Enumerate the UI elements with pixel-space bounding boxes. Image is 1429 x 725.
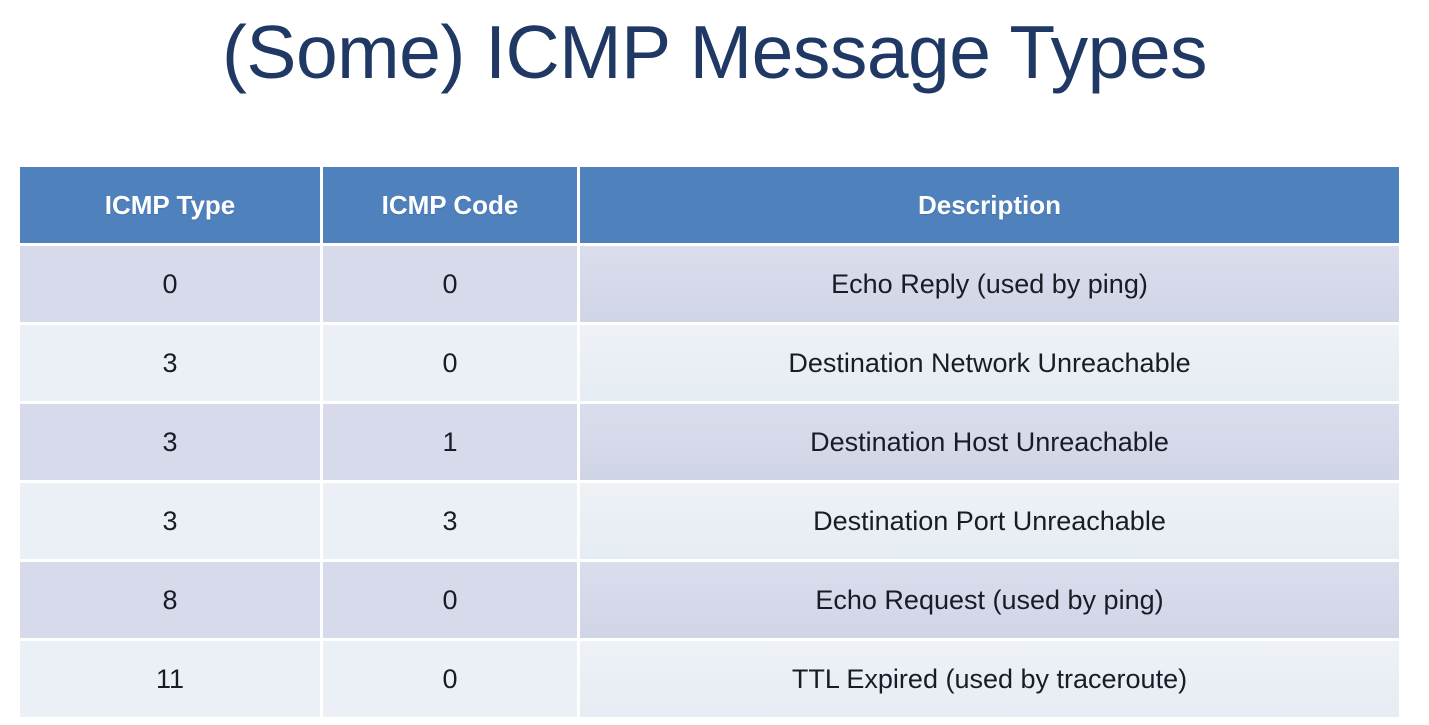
cell-icmp-type: 8	[20, 559, 323, 638]
cell-icmp-code: 0	[323, 638, 580, 717]
cell-icmp-code: 0	[323, 559, 580, 638]
table-row: 3 0 Destination Network Unreachable	[20, 322, 1399, 401]
table-row: 3 1 Destination Host Unreachable	[20, 401, 1399, 480]
cell-description: Destination Host Unreachable	[580, 401, 1399, 480]
cell-description: Destination Network Unreachable	[580, 322, 1399, 401]
cell-icmp-type: 3	[20, 401, 323, 480]
cell-description: Echo Request (used by ping)	[580, 559, 1399, 638]
cell-icmp-type: 11	[20, 638, 323, 717]
cell-icmp-type: 3	[20, 322, 323, 401]
table-body: 0 0 Echo Reply (used by ping) 3 0 Destin…	[20, 243, 1399, 717]
table-row: 11 0 TTL Expired (used by traceroute)	[20, 638, 1399, 717]
table-header-row: ICMP Type ICMP Code Description	[20, 167, 1399, 243]
cell-icmp-code: 3	[323, 480, 580, 559]
slide-canvas: (Some) ICMP Message Types ICMP Type ICMP…	[0, 0, 1429, 725]
cell-description: TTL Expired (used by traceroute)	[580, 638, 1399, 717]
table-row: 0 0 Echo Reply (used by ping)	[20, 243, 1399, 322]
table-row: 3 3 Destination Port Unreachable	[20, 480, 1399, 559]
column-header-icmp-code: ICMP Code	[323, 167, 580, 243]
cell-icmp-code: 0	[323, 322, 580, 401]
cell-icmp-type: 3	[20, 480, 323, 559]
table-row: 8 0 Echo Request (used by ping)	[20, 559, 1399, 638]
cell-description: Echo Reply (used by ping)	[580, 243, 1399, 322]
cell-icmp-code: 0	[323, 243, 580, 322]
cell-icmp-type: 0	[20, 243, 323, 322]
cell-description: Destination Port Unreachable	[580, 480, 1399, 559]
table-header: ICMP Type ICMP Code Description	[20, 167, 1399, 243]
cell-icmp-code: 1	[323, 401, 580, 480]
column-header-icmp-type: ICMP Type	[20, 167, 323, 243]
icmp-message-types-table: ICMP Type ICMP Code Description 0 0 Echo…	[20, 167, 1399, 717]
page-title: (Some) ICMP Message Types	[0, 2, 1429, 102]
column-header-description: Description	[580, 167, 1399, 243]
